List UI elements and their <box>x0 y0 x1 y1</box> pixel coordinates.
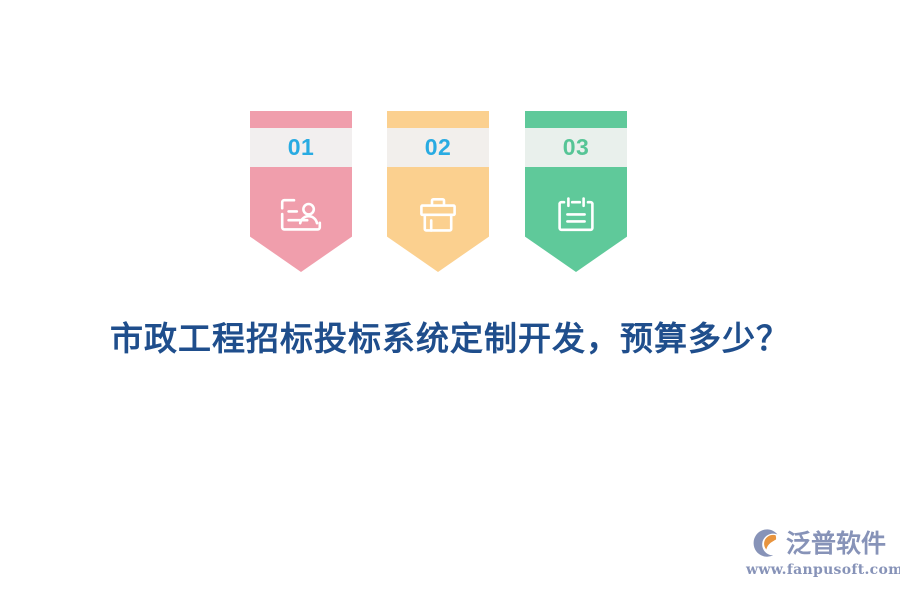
banner-item-03[interactable]: 03 <box>525 111 627 272</box>
banner-item-01[interactable]: 01 <box>250 111 352 272</box>
logo-website-url: www.fanpusoft.com <box>746 562 886 578</box>
number-band-02: 02 <box>387 128 489 167</box>
id-card-contact-icon <box>250 191 352 239</box>
banner-group: 01 02 <box>250 111 650 281</box>
page-title: 市政工程招标投标系统定制开发，预算多少？ <box>0 312 900 360</box>
toolbox-briefcase-icon <box>387 191 489 239</box>
banner-number-03: 03 <box>563 136 590 159</box>
brand-logo[interactable]: 泛普软件 www.fanpusoft.com <box>746 526 886 584</box>
banner-item-02[interactable]: 02 <box>387 111 489 272</box>
banner-number-02: 02 <box>425 136 452 159</box>
banner-number-01: 01 <box>288 136 315 159</box>
fanpu-logo-mark-icon <box>751 527 783 559</box>
number-band-01: 01 <box>250 128 352 167</box>
number-band-03: 03 <box>525 128 627 167</box>
logo-row: 泛普软件 <box>746 526 886 560</box>
logo-company-name: 泛普软件 <box>786 531 886 556</box>
page-canvas: 01 02 <box>0 0 900 600</box>
calendar-note-icon <box>525 191 627 239</box>
